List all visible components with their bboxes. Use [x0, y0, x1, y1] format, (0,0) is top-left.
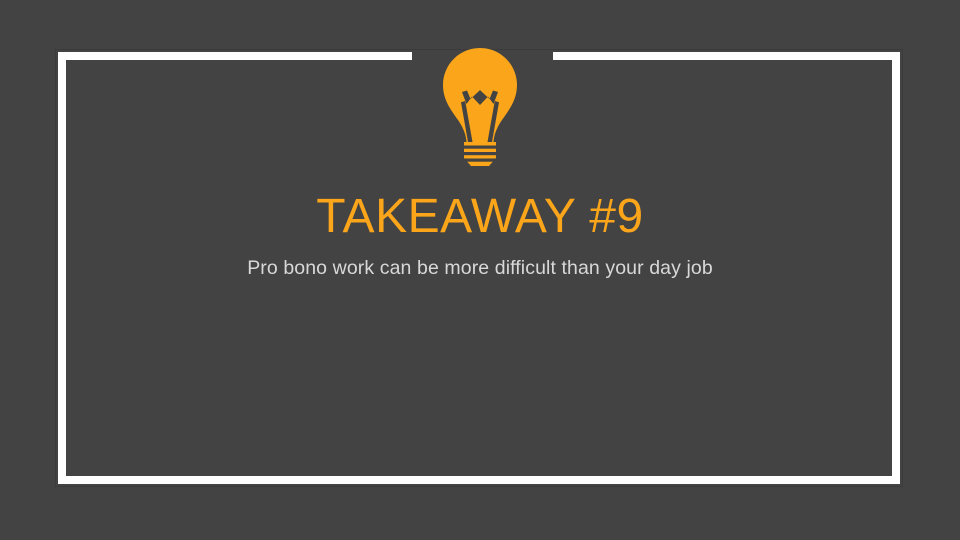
page-title: TAKEAWAY #9 — [0, 190, 960, 244]
frame-border-bottom — [58, 476, 900, 484]
lightbulb-icon — [436, 44, 524, 172]
frame-border-top-left — [58, 52, 412, 60]
slide-subtitle: Pro bono work can be more difficult than… — [0, 256, 960, 281]
slide-text-block: TAKEAWAY #9 Pro bono work can be more di… — [0, 190, 960, 281]
frame-border-top-right — [553, 52, 900, 60]
slide-canvas: TAKEAWAY #9 Pro bono work can be more di… — [0, 0, 960, 540]
